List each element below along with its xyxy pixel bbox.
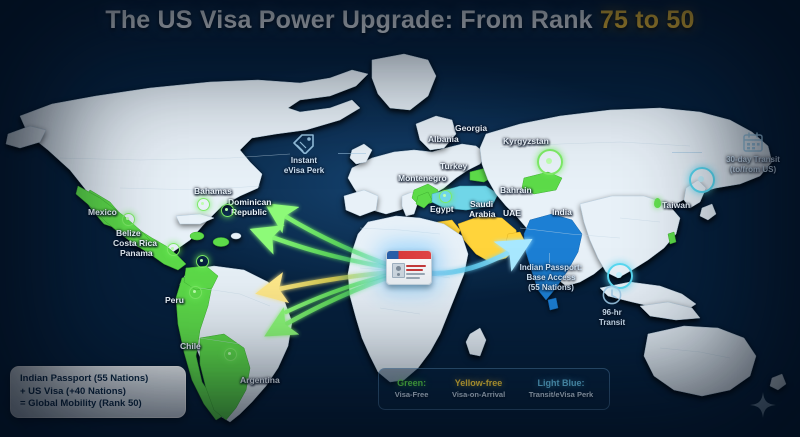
passport-line bbox=[406, 269, 423, 271]
country-label-bahrain: Bahrain bbox=[500, 185, 532, 195]
legend-key: Yellow-free bbox=[452, 378, 505, 389]
marker-kyrgyzstan bbox=[537, 149, 563, 175]
leader-line bbox=[672, 152, 702, 153]
country-label-dominican: Dominican bbox=[228, 197, 271, 207]
leader-line bbox=[549, 253, 550, 263]
marker-bahamas bbox=[197, 198, 210, 211]
annotation-line: eVisa Perk bbox=[284, 166, 324, 175]
legend-value: Visa-on-Arrival bbox=[452, 389, 505, 400]
country-label-bahamas: Bahamas bbox=[194, 186, 232, 196]
marker-panama bbox=[167, 243, 180, 256]
legend-value: Transit/eVisa Perk bbox=[529, 389, 594, 400]
page-title: The US Visa Power Upgrade: From Rank 75 … bbox=[0, 6, 800, 35]
formula-line-1: Indian Passport (55 Nations) bbox=[20, 373, 176, 386]
marker-peru bbox=[189, 286, 202, 299]
formula-line-2: + US Visa (+40 Nations) bbox=[20, 386, 176, 399]
annotation-line: Indian Passport: bbox=[520, 263, 583, 272]
title-highlight: 75 to 50 bbox=[600, 6, 695, 34]
annotation-line: (55 Nations) bbox=[528, 283, 574, 292]
marker-dominican bbox=[221, 204, 234, 217]
passport-header-bar bbox=[387, 251, 431, 259]
country-label-saudi: Saudi bbox=[470, 199, 493, 209]
country-label-chile: Chile bbox=[180, 341, 201, 351]
marker-argentina bbox=[224, 348, 237, 361]
legend-item-green: Green: Visa-Free bbox=[395, 378, 429, 400]
country-label-india: India bbox=[552, 207, 572, 217]
passport-card-icon bbox=[386, 250, 432, 285]
formula-line-3: = Global Mobility (Rank 50) bbox=[20, 398, 176, 411]
annotation-30day-transit: 30-day Transit (to/from US) bbox=[710, 132, 796, 175]
annotation-line: Transit bbox=[599, 318, 625, 327]
country-label-arabia: Arabia bbox=[469, 209, 495, 219]
country-label-peru: Peru bbox=[165, 295, 184, 305]
country-label-taiwan: Taiwan bbox=[662, 200, 690, 210]
country-label-mexico: Mexico bbox=[88, 207, 117, 217]
country-label-republic: Republic bbox=[231, 207, 267, 217]
annotation-line: 30-day Transit bbox=[726, 155, 780, 164]
country-label-egypt: Egypt bbox=[430, 204, 454, 214]
formula-legend-box: Indian Passport (55 Nations) + US Visa (… bbox=[10, 366, 186, 418]
legend-key: Light Blue: bbox=[529, 378, 594, 389]
country-label-costa-rica: Costa Rica bbox=[113, 238, 157, 248]
annotation-96hr-transit: 96-hr Transit bbox=[583, 284, 641, 328]
country-label-panama: Panama bbox=[120, 248, 153, 258]
country-label-turkey: Turkey bbox=[440, 161, 467, 171]
country-label-georgia: Georgia bbox=[455, 123, 487, 133]
passport-line bbox=[406, 265, 426, 267]
country-label-argentina: Argentina bbox=[240, 375, 280, 385]
passport-photo bbox=[392, 263, 405, 278]
color-legend: Green: Visa-Free Yellow-free Visa-on-Arr… bbox=[378, 368, 610, 410]
country-label-belize: Belize bbox=[116, 228, 141, 238]
title-main: The US Visa Power Upgrade: From Rank bbox=[105, 6, 600, 34]
infographic-canvas: The US Visa Power Upgrade: From Rank 75 … bbox=[0, 0, 800, 437]
passport-line bbox=[406, 273, 425, 275]
annotation-line: Instant bbox=[291, 156, 317, 165]
passport-line bbox=[406, 277, 420, 279]
country-label-albania: Albania bbox=[428, 134, 459, 144]
legend-key: Green: bbox=[395, 378, 429, 389]
tag-icon bbox=[291, 132, 317, 154]
annotation-instant-evisa: Instant eVisa Perk bbox=[268, 132, 340, 176]
marker-egypt bbox=[439, 190, 452, 203]
leader-line bbox=[338, 153, 366, 154]
legend-item-yellow: Yellow-free Visa-on-Arrival bbox=[452, 378, 505, 400]
country-label-uae: UAE bbox=[503, 208, 521, 218]
sparkle-icon bbox=[750, 392, 776, 418]
marker-mexico bbox=[122, 213, 135, 226]
calendar-icon bbox=[742, 132, 764, 153]
annotation-line: 96-hr bbox=[602, 308, 622, 317]
annotation-line: (to/from US) bbox=[730, 165, 776, 174]
country-label-montenegro: Montenegro bbox=[398, 173, 447, 183]
annotation-line: Base Access bbox=[526, 273, 575, 282]
legend-value: Visa-Free bbox=[395, 389, 429, 400]
clock-icon bbox=[601, 284, 623, 306]
marker-colombia bbox=[196, 255, 209, 268]
legend-item-blue: Light Blue: Transit/eVisa Perk bbox=[529, 378, 594, 400]
marker-taiwan bbox=[654, 198, 661, 208]
country-label-kyrgyzstan: Kyrgyzstan bbox=[503, 136, 549, 146]
